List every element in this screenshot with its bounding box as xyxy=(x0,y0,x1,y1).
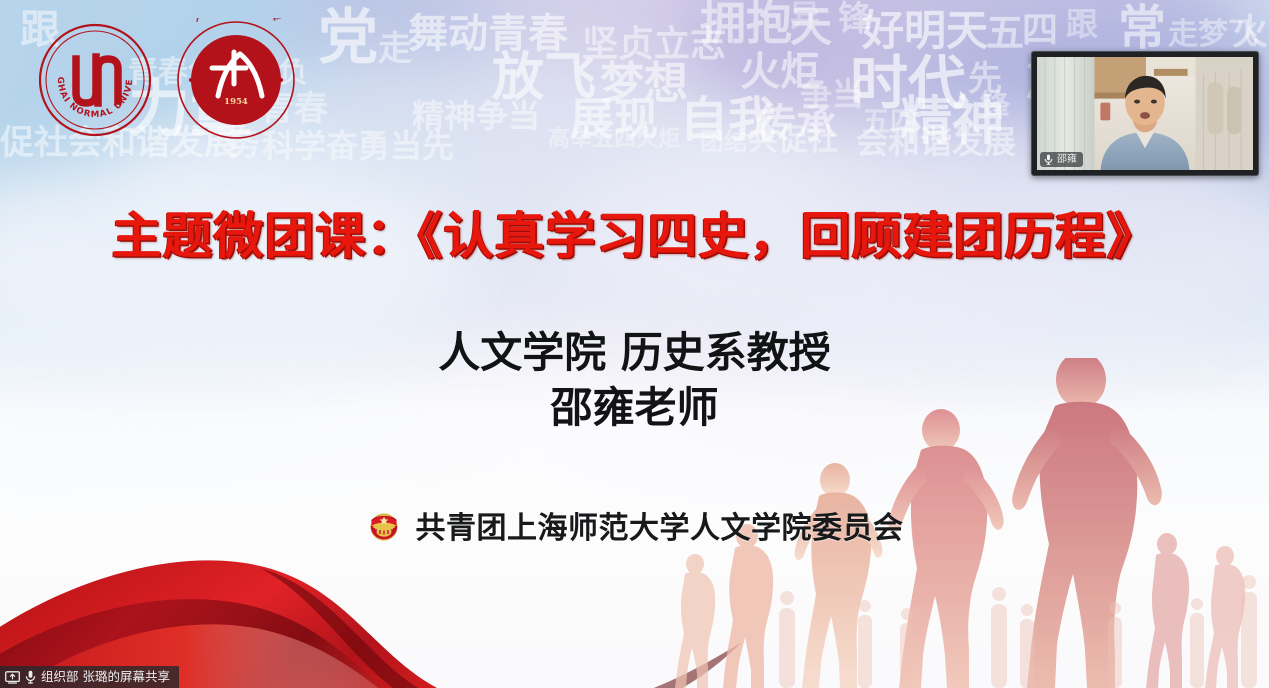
background-word: 锋 xyxy=(980,92,1010,122)
background-word: 高举五四火炬 xyxy=(548,128,680,150)
shanghai-normal-university-logo: 上海师范大学 SHANGHAI NORMAL UNIVERSITY xyxy=(36,21,154,139)
screen-share-icon xyxy=(5,671,20,684)
background-word: 放飞 xyxy=(492,52,596,104)
slide-title: 主题微团课：《认真学习四史，回顾建团历程》 xyxy=(0,196,1269,268)
subtitle-line-1: 人文学院 历史系教授 xyxy=(438,328,831,377)
background-wash xyxy=(300,0,860,170)
logo-group: 上海师范大学 SHANGHAI NORMAL UNIVERSITY xyxy=(36,18,298,142)
background-word: 好明天 xyxy=(862,10,988,52)
background-word: 五 xyxy=(986,14,1024,52)
background-word: 五四 xyxy=(862,108,918,136)
background-word: 会和谐发展 xyxy=(856,126,1016,158)
background-word: 火 xyxy=(1232,14,1268,50)
background-word: 异 xyxy=(790,2,820,32)
background-word: 团结 xyxy=(700,130,748,154)
slide-subtitle: 人文学院 历史系教授 邵雍老师 xyxy=(0,325,1269,436)
share-status-label: 组织部 张璐的屏幕共享 xyxy=(41,671,170,684)
background-word: 坚贞立志 xyxy=(582,26,726,62)
screen-share-stage: 跟党走舞动青春坚贞立志拥抱天锋异好明天五四跟常走梦飞火青春创业不负放飞梦想火炬争… xyxy=(0,0,1269,688)
background-word: 跟 xyxy=(1066,8,1098,40)
background-word: 时代 xyxy=(850,54,966,112)
background-word: 自我 xyxy=(680,96,776,144)
organization-name: 共青团上海师范大学人文学院委员会 xyxy=(416,503,904,547)
background-word: 党 xyxy=(318,8,378,68)
background-word: 拥抱 xyxy=(700,0,792,46)
background-word: 展现 xyxy=(570,98,658,142)
communist-youth-league-emblem-icon xyxy=(366,507,402,543)
participant-name: 邵雍 xyxy=(1057,155,1077,165)
participant-video-tile[interactable]: 邵雍 xyxy=(1031,51,1259,176)
background-word: 精神 xyxy=(900,96,1004,148)
background-word: 走梦飞 xyxy=(1168,20,1258,50)
svg-text:上海师范大学: 上海师范大学 xyxy=(53,21,137,23)
microphone-icon xyxy=(25,670,36,684)
screen-share-status-bar: 组织部 张璐的屏幕共享 xyxy=(0,666,179,688)
organization-line: 共青团上海师范大学人文学院委员会 xyxy=(0,503,1269,547)
background-word: 锋 xyxy=(838,2,872,36)
background-word: 火炬 xyxy=(740,52,820,92)
background-word: 常 xyxy=(1118,4,1166,52)
background-word: 共促社 xyxy=(748,126,838,156)
participant-video-feed: 邵雍 xyxy=(1037,57,1253,170)
svg-text:1954: 1954 xyxy=(224,97,248,107)
background-word: 梦想 xyxy=(600,62,688,106)
microphone-icon xyxy=(1044,154,1053,165)
participant-name-chip: 邵雍 xyxy=(1040,152,1083,167)
background-word: 传承 xyxy=(756,104,836,144)
background-word: 四 xyxy=(1022,12,1058,48)
background-word: 舞动青春 xyxy=(408,14,568,54)
subtitle-line-2: 邵雍老师 xyxy=(0,380,1269,435)
background-word: 先 xyxy=(968,62,1002,96)
background-word: 精神争当 xyxy=(412,100,540,132)
background-word: 争当 xyxy=(800,78,864,110)
background-word: 天 xyxy=(790,6,832,48)
school-of-humanities-logo: 上海师范大学人文学院 SCHOOL OF HUMANITIES 1954 xyxy=(174,18,298,142)
background-word: 走 xyxy=(378,32,412,66)
